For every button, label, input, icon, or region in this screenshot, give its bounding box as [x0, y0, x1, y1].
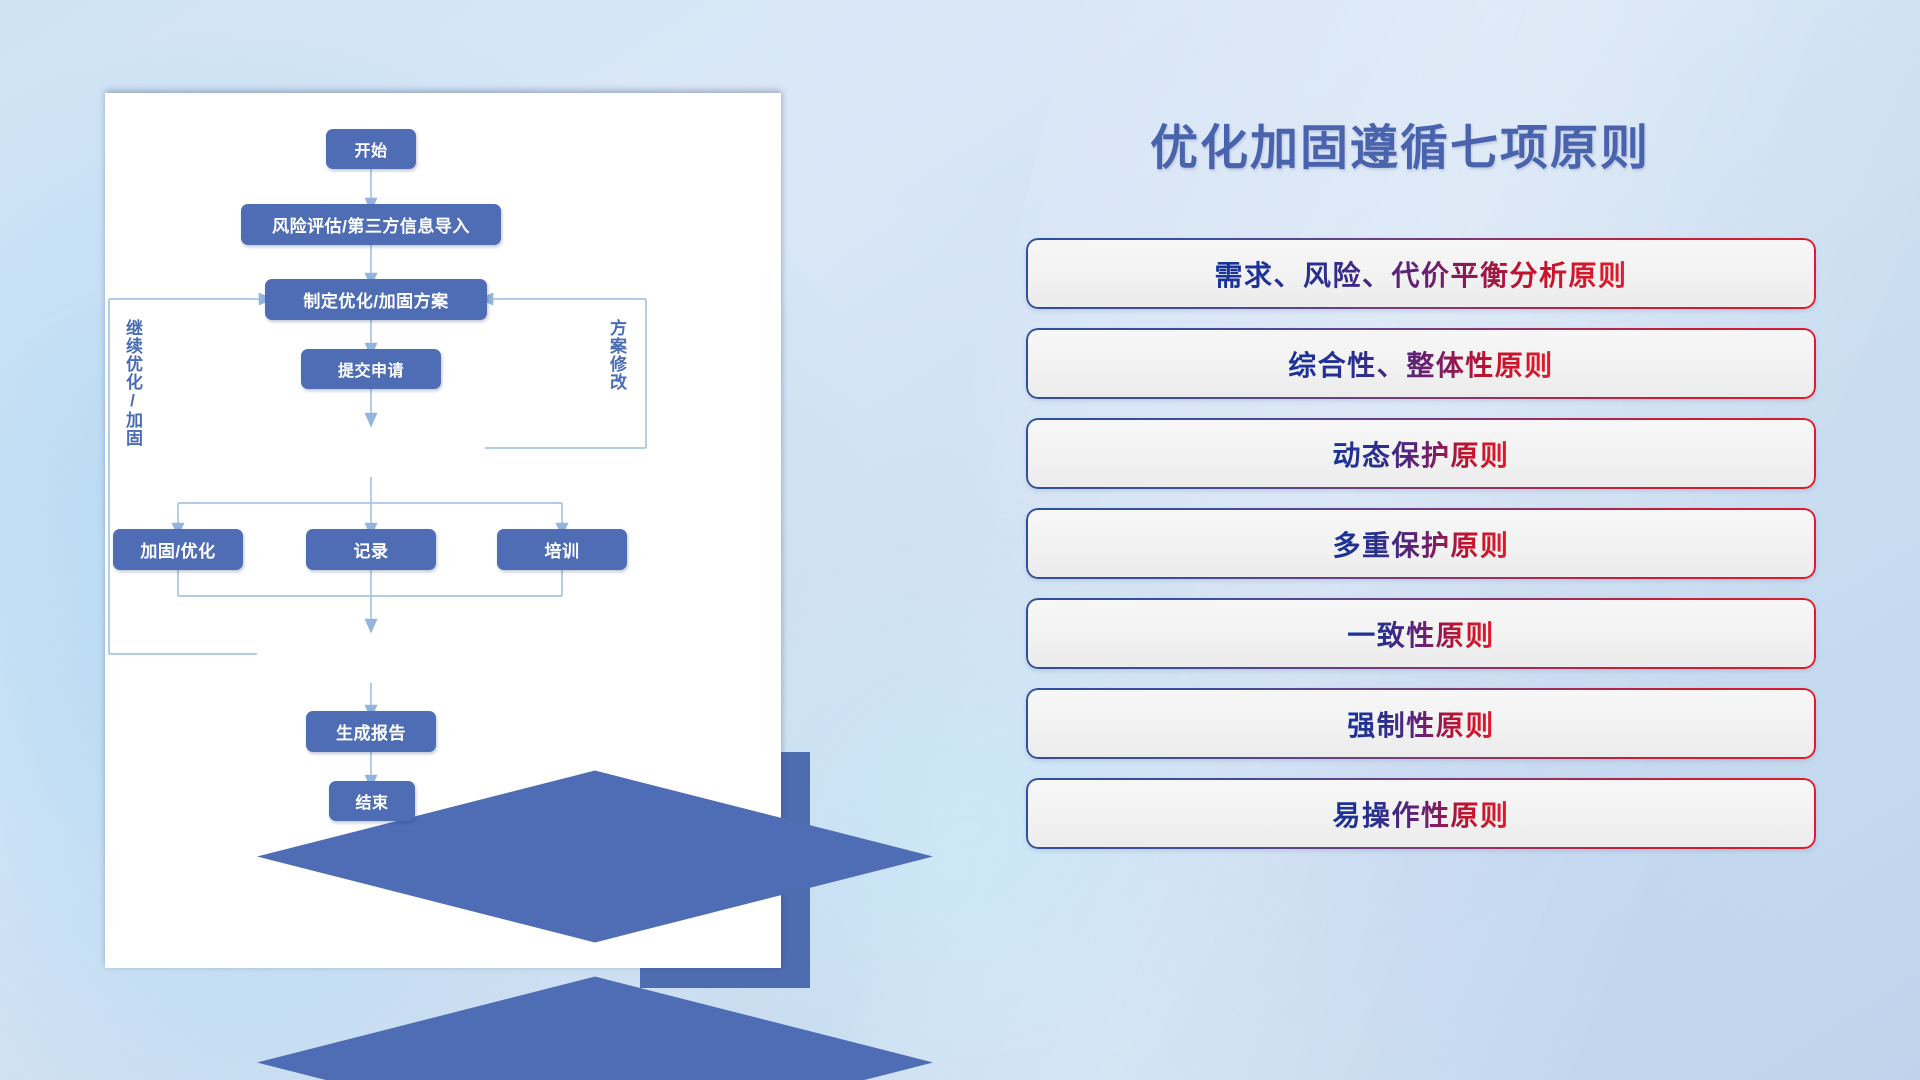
page-title: 优化加固遵循七项原则 [1150, 108, 1650, 178]
flow-node-end[interactable]: 结束 [329, 781, 415, 821]
flow-node-record[interactable]: 记录 [306, 529, 436, 570]
flow-node-report[interactable]: 生成报告 [306, 711, 436, 752]
principle-label: 多重保护原则 [1332, 524, 1509, 564]
principle-item[interactable]: 一致性原则 [1026, 598, 1816, 669]
flow-node-submit-label: 提交申请 [338, 357, 404, 381]
flow-node-owner-confirm-label: 业主方确认 [332, 438, 410, 459]
principles-list: 需求、风险、代价平衡分析原则 综合性、整体性原则 动态保护原则 多重保护原则 一… [1026, 238, 1816, 868]
principle-item[interactable]: 综合性、整体性原则 [1026, 328, 1816, 399]
principle-label: 需求、风险、代价平衡分析原则 [1214, 254, 1627, 294]
flow-node-record-label: 记录 [354, 537, 389, 562]
flow-node-reinforce[interactable]: 加固/优化 [113, 529, 243, 570]
flow-node-training-label: 培训 [545, 537, 580, 562]
flow-node-plan[interactable]: 制定优化/加固方案 [265, 279, 487, 320]
principle-item[interactable]: 强制性原则 [1026, 688, 1816, 759]
flow-node-plan-label: 制定优化/加固方案 [303, 287, 448, 312]
slide-root: 开始 风险评估/第三方信息导入 制定优化/加固方案 提交申请 业主方确认 加固/… [0, 0, 1920, 1080]
flow-node-risk-assessment[interactable]: 风险评估/第三方信息导入 [241, 204, 501, 245]
flowchart: 开始 风险评估/第三方信息导入 制定优化/加固方案 提交申请 业主方确认 加固/… [105, 93, 781, 968]
diamond-shape [257, 625, 933, 1080]
flowchart-card: 开始 风险评估/第三方信息导入 制定优化/加固方案 提交申请 业主方确认 加固/… [105, 93, 781, 968]
principle-label: 一致性原则 [1347, 614, 1495, 654]
flow-edge-label-continue-optimize: 继续优化/加固 [123, 319, 141, 447]
flow-node-check-confirm-label: 检查确认 [340, 644, 402, 665]
flow-node-submit[interactable]: 提交申请 [301, 349, 441, 389]
flow-edge-label-plan-revision: 方案修改 [607, 319, 625, 391]
principle-item[interactable]: 多重保护原则 [1026, 508, 1816, 579]
flow-node-start[interactable]: 开始 [326, 129, 416, 169]
flow-node-reinforce-label: 加固/优化 [140, 537, 215, 562]
flow-node-start-label: 开始 [354, 137, 387, 161]
principle-item[interactable]: 需求、风险、代价平衡分析原则 [1026, 238, 1816, 309]
principle-item[interactable]: 动态保护原则 [1026, 418, 1816, 489]
principle-label: 动态保护原则 [1332, 434, 1509, 474]
flow-node-report-label: 生成报告 [336, 719, 406, 744]
flow-node-training[interactable]: 培训 [497, 529, 627, 570]
flow-node-check-confirm[interactable]: 检查确认 [257, 625, 485, 683]
flow-node-end-label: 结束 [355, 789, 388, 813]
principle-label: 易操作性原则 [1332, 794, 1509, 834]
flow-node-owner-confirm[interactable]: 业主方确认 [257, 419, 485, 477]
principle-label: 综合性、整体性原则 [1288, 344, 1554, 384]
principle-item[interactable]: 易操作性原则 [1026, 778, 1816, 849]
principle-label: 强制性原则 [1347, 704, 1495, 744]
flow-node-risk-assessment-label: 风险评估/第三方信息导入 [272, 212, 470, 237]
